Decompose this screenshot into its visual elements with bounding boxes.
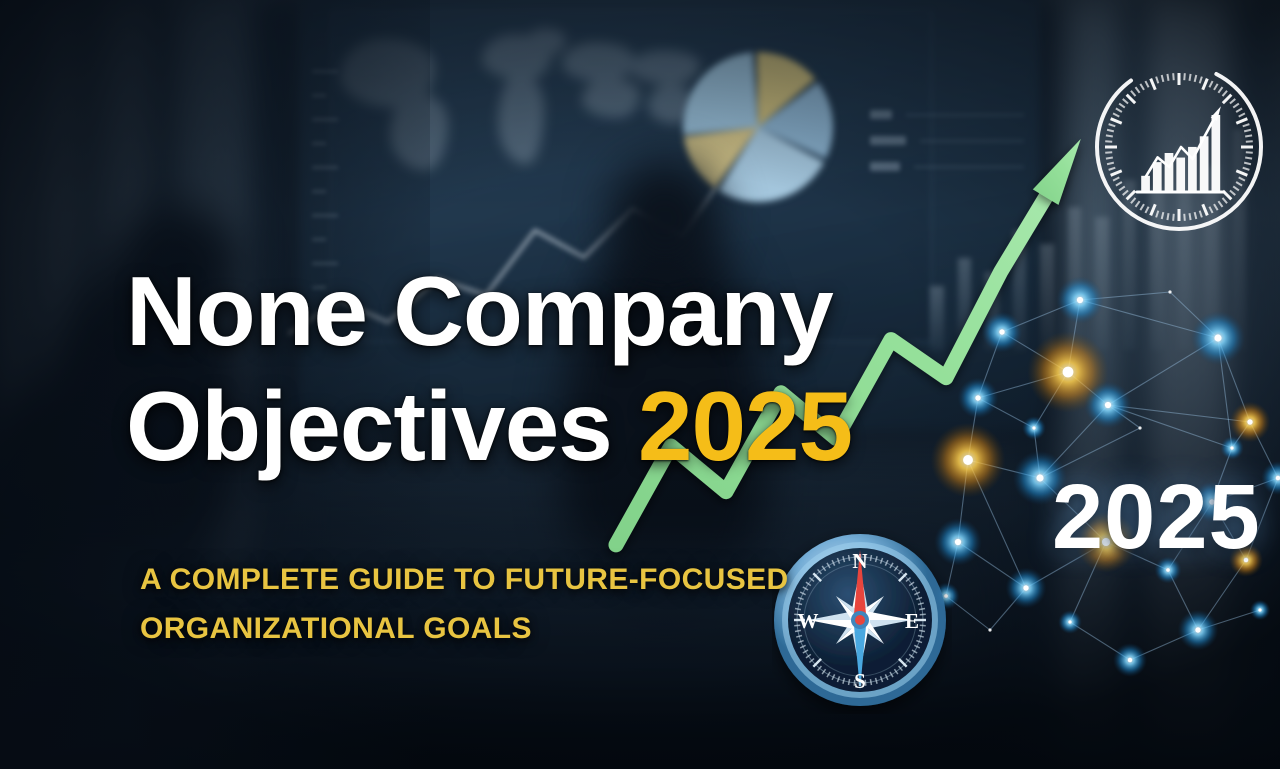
page-title: None Company Objectives 2025 [126,254,1026,485]
subtitle-line-2: ORGANIZATIONAL GOALS [140,605,800,654]
badge-outer-ring [1097,65,1261,229]
compass-label-east: E [905,609,919,633]
page-subtitle: A COMPLETE GUIDE TO FUTURE-FOCUSED ORGAN… [140,556,800,653]
subtitle-line-1: A COMPLETE GUIDE TO FUTURE-FOCUSED [140,556,800,605]
title-main: Objectives [126,371,612,481]
poster-canvas: N E S W None Company Objectives 2025 A C… [0,0,1280,769]
badge-tick-marks [1105,73,1253,221]
compass-label-south: S [854,669,866,693]
chart-badge-bars [1141,115,1220,191]
title-line-2: Objectives 2025 [126,369,1026,485]
compass-label-west: W [798,609,819,633]
year-badge: 2025 [1052,465,1261,570]
title-line-1: None Company [126,254,1026,370]
title-year: 2025 [638,371,852,481]
chart-badge-icon [1090,58,1268,236]
compass-label-north: N [852,549,867,573]
